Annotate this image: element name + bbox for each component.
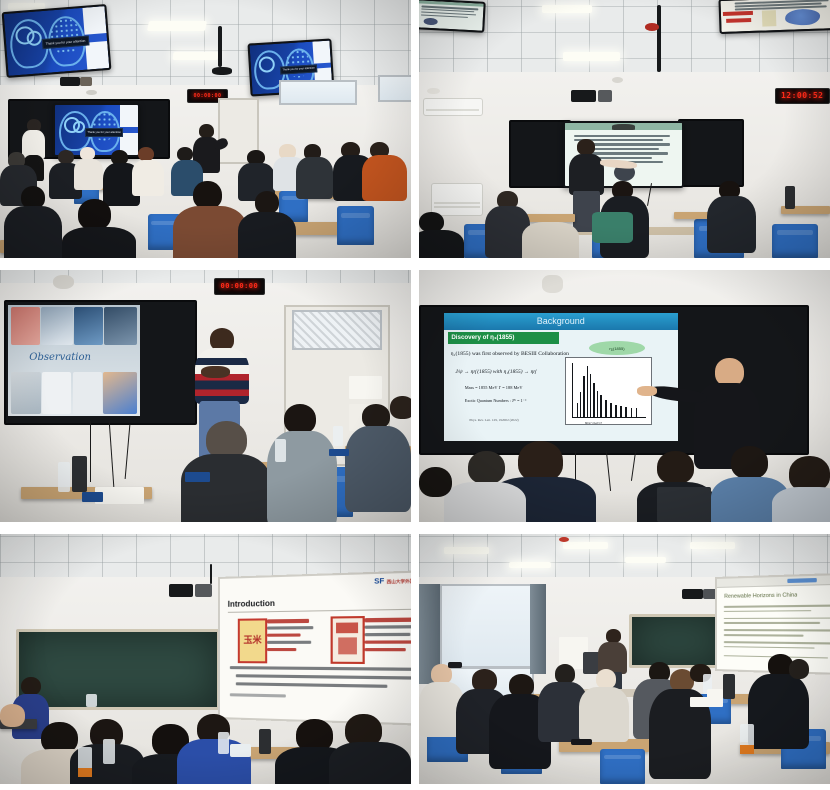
water-bottle <box>86 694 97 707</box>
projection-screen: SF 西山大学外国语学院 Introduction 玉米 <box>218 569 411 725</box>
audience-body <box>132 160 165 196</box>
water-bottle <box>333 426 343 446</box>
audience-head <box>58 150 74 164</box>
audience-body <box>444 482 526 522</box>
photo-grid: Thank you for your attention Thank you f… <box>0 0 830 790</box>
slide-thank-you-bar: Thank you for your attention <box>85 128 123 137</box>
dome-camera <box>612 77 623 83</box>
wall-speaker <box>571 90 596 102</box>
audience-head <box>362 404 391 429</box>
plot-xlabel: M(ηη′) (GeV/c²) <box>585 422 602 425</box>
classroom-window <box>440 584 534 668</box>
slide-annotation-bubble: η₁(1855) <box>589 341 645 355</box>
ceiling-mount-bracket <box>657 5 660 72</box>
presenter-head <box>606 629 621 643</box>
wall-speaker <box>169 584 194 597</box>
slide-body-line: η₁(1855) was first observed by BESIII Co… <box>451 351 569 357</box>
ceiling-light <box>147 21 207 31</box>
photo-top-left[interactable]: Thank you for your attention Thank you f… <box>0 0 411 258</box>
audience-body <box>345 426 411 512</box>
school-logo: SF 西山大学外国语学院 <box>374 576 411 585</box>
audience-head <box>789 659 810 679</box>
cable <box>90 421 91 481</box>
slide-header-background: Background <box>444 313 678 330</box>
phone <box>448 662 462 668</box>
student-chair <box>600 749 645 784</box>
ceiling-light <box>690 542 735 550</box>
photo-middle-right[interactable]: Background Discovery of η₁(1855) η₁(1855… <box>419 270 830 522</box>
green-chalkboard <box>629 614 725 668</box>
slide-subtitle: Discovery of η₁(1855) <box>448 332 559 344</box>
physics-slide-display: Background Discovery of η₁(1855) η₁(1855… <box>444 313 678 442</box>
water-bottle <box>58 462 70 492</box>
audience-body <box>296 157 333 198</box>
audience-body <box>62 227 136 258</box>
audience-body <box>419 230 464 258</box>
red-flag-banner <box>726 18 751 23</box>
wall-speaker <box>195 584 211 597</box>
audience-head <box>390 396 411 419</box>
audience-body <box>522 222 580 258</box>
slide-introduction: SF 西山大学外国语学院 Introduction 玉米 <box>220 572 411 723</box>
backpack <box>592 212 633 243</box>
ceiling-light <box>563 542 608 550</box>
blackboard-right-panel <box>678 119 744 188</box>
slide-map <box>721 0 830 32</box>
presenter-head <box>577 139 595 154</box>
side-cabinet <box>431 183 482 216</box>
book-cover-text: 玉米 <box>243 636 261 644</box>
slide-bullet: Exotic Quantum Numbers : Jᴾᶜ = 1⁻⁺ <box>465 398 527 403</box>
cup <box>230 744 251 757</box>
audience-body <box>74 159 103 190</box>
name-card <box>82 492 103 502</box>
audience-head <box>284 404 317 434</box>
ceiling-light <box>172 52 218 60</box>
red-flag-banner <box>723 11 753 16</box>
photo-middle-left[interactable]: 00:00:00 Observation <box>0 270 411 522</box>
phone <box>571 739 592 745</box>
slide-document <box>419 0 483 30</box>
ceiling-light <box>542 5 591 13</box>
thermos <box>259 729 271 754</box>
slide-citation: Phys. Rev. Lett. 129, 192002 (2022) <box>469 418 518 422</box>
name-card <box>329 449 350 457</box>
logo-mark: SF <box>374 578 384 586</box>
ceiling-mount-bracket <box>218 26 222 67</box>
slide-formula: J/ψ → ηη′(1855) with η₁(1855) → ηη′ <box>455 369 537 375</box>
audience-head <box>518 441 563 481</box>
audience-head <box>468 451 505 484</box>
led-wall-clock: 12:00:52 <box>775 88 830 104</box>
audience-body <box>181 454 271 522</box>
photo-top-right[interactable]: 12:00:52 <box>419 0 830 258</box>
slide-observation-title: Observation <box>29 352 91 363</box>
chair-back <box>657 487 710 522</box>
photo-bottom-right[interactable]: Renewable Horizons in China <box>419 534 830 784</box>
dome-camera <box>427 88 439 95</box>
audience-body <box>362 155 407 201</box>
water-bottle <box>218 732 230 755</box>
audience-body <box>748 674 810 749</box>
slide-physics-background: Background Discovery of η₁(1855) η₁(1855… <box>444 313 678 442</box>
slide-title: Introduction <box>228 598 275 608</box>
window-curtain <box>530 584 546 674</box>
audience-head <box>657 451 694 484</box>
audience-body <box>329 742 411 785</box>
presenter-body <box>569 154 604 195</box>
audience-head <box>419 467 452 497</box>
presenter-hand <box>201 366 230 379</box>
audience-head <box>0 704 25 727</box>
observation-display: Observation <box>8 305 140 416</box>
ceiling-tv-left <box>419 0 485 33</box>
air-conditioner <box>423 98 483 115</box>
audience-body <box>772 487 830 522</box>
audience-head <box>193 181 222 209</box>
slide-bullet: Mass = 1855 MeV Γ = 188 MeV <box>465 385 523 390</box>
water-bottle <box>78 747 92 777</box>
projector <box>212 67 233 75</box>
student-chair <box>337 206 374 245</box>
name-card <box>185 472 210 482</box>
thermos <box>785 186 796 209</box>
wall-vent-window <box>279 80 357 105</box>
logo-text: 西山大学外国语学院 <box>386 577 411 585</box>
ceiling-tv-left: Thank you for your attention <box>2 4 112 78</box>
audience-body <box>4 206 62 258</box>
audience-head <box>731 446 768 479</box>
audience-head <box>255 191 280 214</box>
wall-vent-window <box>378 75 411 102</box>
door-grille-window <box>292 310 382 349</box>
audience-body <box>173 206 247 258</box>
audience-head <box>78 199 111 230</box>
thermos <box>72 456 87 491</box>
wall-speaker <box>80 77 92 86</box>
presenter-head <box>199 124 214 138</box>
presenter-head <box>715 358 744 386</box>
book-cover-right <box>330 615 365 663</box>
audience-body <box>238 212 296 258</box>
book-cover-left: 玉米 <box>237 618 267 663</box>
audience-body <box>707 196 756 253</box>
audience-body <box>579 687 628 742</box>
blackboard-left-panel <box>509 120 571 189</box>
slide-ai-thank-you: Thank you for your attention <box>55 105 137 155</box>
ceiling-light <box>509 562 550 569</box>
fire-alarm <box>559 537 569 542</box>
presenter-hand <box>637 386 658 396</box>
notebook <box>690 697 723 707</box>
led-wall-clock: 00:00:00 <box>214 278 265 295</box>
water-bottle <box>275 439 286 462</box>
slide-ai-thank-you: Thank you for your attention <box>4 6 109 76</box>
ceiling-light <box>625 557 666 564</box>
dome-camera <box>542 275 563 293</box>
wall-speaker <box>682 589 703 599</box>
ceiling-light <box>563 52 621 61</box>
dome-camera <box>53 275 74 289</box>
wall-speaker <box>60 77 81 86</box>
water-bottle <box>103 739 115 764</box>
slide-observation: Observation <box>8 305 140 416</box>
photo-bottom-left[interactable]: SF 西山大学外国语学院 Introduction 玉米 <box>0 534 411 784</box>
student-chair <box>772 224 817 258</box>
thermos <box>723 674 735 699</box>
slide-title: Renewable Horizons in China <box>724 592 797 600</box>
wall-speaker <box>598 90 612 102</box>
ceiling-tv-right <box>718 0 830 34</box>
ceiling-light <box>444 547 489 555</box>
green-chalkboard <box>16 629 219 710</box>
door-notice <box>349 376 382 399</box>
water-bottle <box>740 724 754 754</box>
presenter-head <box>21 677 42 696</box>
